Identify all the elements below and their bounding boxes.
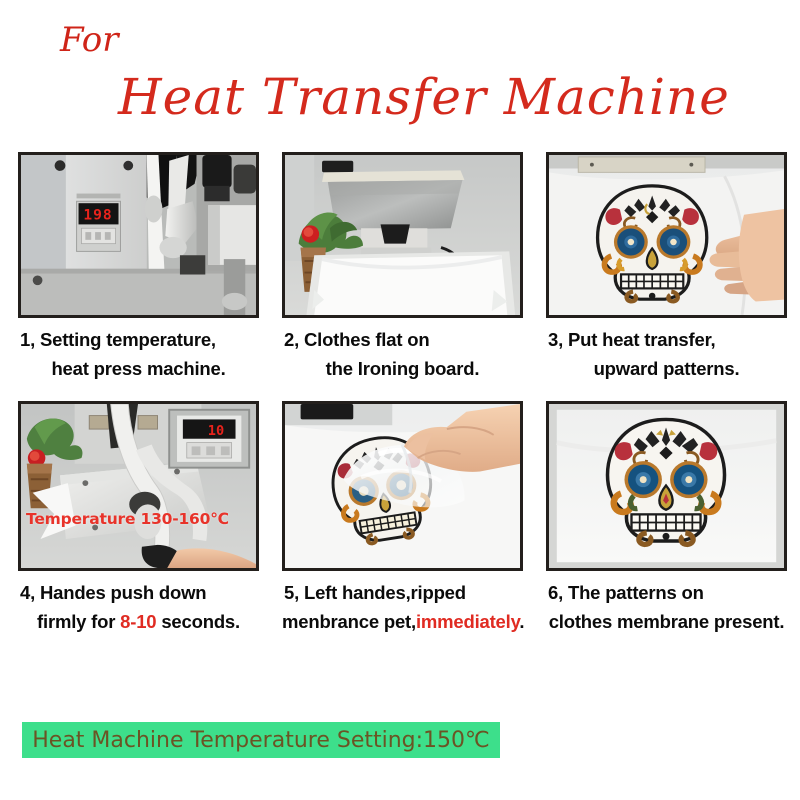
steps-row-2: 10 Temperature 130-160℃ 4, Handes push d… — [0, 401, 800, 636]
step-4-photo: 10 Temperature 130-160℃ — [18, 401, 259, 571]
skull-transfer-placed-illustration — [549, 155, 784, 315]
step-5-caption-line1: 5, Left handes,ripped — [282, 578, 523, 607]
step-4-caption-line2-b: seconds. — [156, 611, 240, 632]
step-5-caption-line2: menbrance pet,immediately. — [282, 607, 523, 636]
step-1-caption: 1, Setting temperature, heat press machi… — [18, 325, 259, 383]
step-cell-1: 198 — [18, 152, 259, 383]
step-2-caption: 2, Clothes flat on the Ironing board. — [282, 325, 523, 383]
step-4-caption-line1: 4, Handes push down — [18, 578, 259, 607]
step-6-caption-line2: clothes membrane present. — [546, 607, 787, 636]
title-line-for: For — [60, 20, 118, 60]
steps-grid: 198 — [0, 152, 800, 636]
step-2-caption-line2: the Ironing board. — [282, 354, 523, 383]
step-1-photo: 198 — [18, 152, 259, 318]
step-1-caption-line1: 1, Setting temperature, — [18, 325, 259, 354]
step-4-caption-highlight: 8-10 — [120, 611, 156, 632]
step-6-photo — [546, 401, 787, 571]
step-3-photo — [546, 152, 787, 318]
step-3-caption-line2: upward patterns. — [546, 354, 787, 383]
peeling-film-illustration — [285, 404, 520, 568]
step-2-photo — [282, 152, 523, 318]
step-cell-5: 5, Left handes,ripped menbrance pet,imme… — [282, 401, 523, 636]
step-2-caption-line1: 2, Clothes flat on — [282, 325, 523, 354]
step-4-caption-line2-a: firmly for — [37, 611, 120, 632]
temperature-setting-banner: Heat Machine Temperature Setting:150℃ — [22, 722, 500, 758]
step-5-caption-line2-b: . — [519, 611, 524, 632]
step-6-caption: 6, The patterns on clothes membrane pres… — [546, 578, 787, 636]
step-5-caption-line2-a: menbrance pet, — [282, 611, 416, 632]
step-cell-4: 10 Temperature 130-160℃ 4, Handes push d… — [18, 401, 259, 636]
temperature-setting-banner-text: Heat Machine Temperature Setting:150℃ — [32, 728, 490, 753]
heat-press-open-illustration — [285, 155, 520, 315]
title-line-main: Heat Transfer Machine — [118, 68, 730, 126]
step-3-caption-line1: 3, Put heat transfer, — [546, 325, 787, 354]
infographic-page: For Heat Transfer Machine — [0, 0, 800, 800]
svg-text:10: 10 — [208, 423, 224, 439]
step-1-caption-line2: heat press machine. — [18, 354, 259, 383]
step-5-photo — [282, 401, 523, 571]
step-cell-3: 3, Put heat transfer, upward patterns. — [546, 152, 787, 383]
svg-text:198: 198 — [83, 208, 112, 224]
step-3-caption: 3, Put heat transfer, upward patterns. — [546, 325, 787, 383]
pressing-handle-illustration: 10 — [21, 404, 256, 568]
steps-row-1: 198 — [0, 152, 800, 383]
step-4-caption-line2: firmly for 8-10 seconds. — [18, 607, 259, 636]
step-4-temperature-overlay: Temperature 130-160℃ — [26, 510, 259, 528]
step-5-caption-highlight: immediately — [416, 611, 519, 632]
step-cell-6: 6, The patterns on clothes membrane pres… — [546, 401, 787, 636]
step-4-caption: 4, Handes push down firmly for 8-10 seco… — [18, 578, 259, 636]
step-cell-2: 2, Clothes flat on the Ironing board. — [282, 152, 523, 383]
heat-press-control-panel-illustration: 198 — [21, 155, 256, 315]
page-title: For Heat Transfer Machine — [0, 0, 800, 150]
step-6-caption-line1: 6, The patterns on — [546, 578, 787, 607]
step-5-caption: 5, Left handes,ripped menbrance pet,imme… — [282, 578, 523, 636]
finished-skull-illustration — [549, 404, 784, 568]
